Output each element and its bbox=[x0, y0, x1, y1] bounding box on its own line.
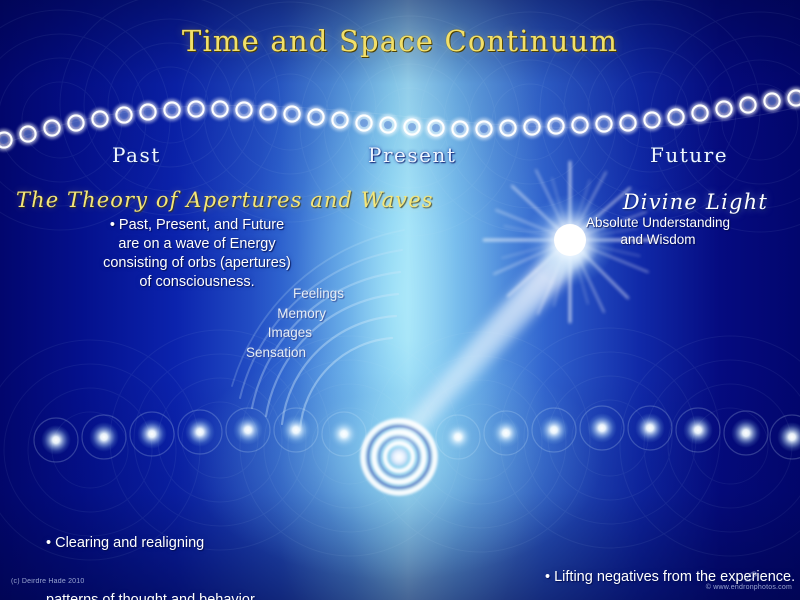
divine-subtitle-line-1: Absolute Understanding bbox=[558, 214, 758, 231]
copyright-left: (c) Deirdre Hade 2010 bbox=[11, 578, 84, 585]
aperture-list: Feelings Memory Images Sensation bbox=[180, 284, 340, 362]
copyright-right: © www.endronphotos.com bbox=[706, 584, 792, 591]
theory-heading: The Theory of Apertures and Waves bbox=[16, 188, 434, 212]
photographer-watermark-icon bbox=[744, 570, 760, 584]
artwork-canvas: Time and Space Continuum Past Present Fu… bbox=[0, 0, 800, 600]
theory-line-1: • Past, Present, and Future bbox=[72, 216, 322, 235]
timeline-label-past: Past bbox=[112, 143, 161, 167]
divine-subtitle-line-2: and Wisdom bbox=[558, 231, 758, 248]
bottom-left-line-1: • Clearing and realigning bbox=[46, 534, 258, 553]
divine-light-subtitle: Absolute Understanding and Wisdom bbox=[558, 214, 758, 248]
aperture-item-images: Images bbox=[152, 323, 312, 343]
timeline-label-future: Future bbox=[650, 143, 728, 167]
theory-body: • Past, Present, and Future are on a wav… bbox=[72, 216, 322, 292]
aperture-item-feelings: Feelings bbox=[184, 284, 344, 304]
theory-line-3: consisting of orbs (apertures) bbox=[72, 254, 322, 273]
aperture-item-memory: Memory bbox=[166, 304, 326, 324]
page-title: Time and Space Continuum bbox=[0, 24, 800, 58]
bottom-left-line-2: patterns of thought and behavior. bbox=[46, 591, 258, 600]
theory-line-2: are on a wave of Energy bbox=[72, 235, 322, 254]
aperture-item-sensation: Sensation bbox=[146, 343, 306, 363]
divine-light-heading: Divine Light bbox=[623, 190, 768, 214]
timeline-label-present: Present bbox=[368, 143, 456, 167]
